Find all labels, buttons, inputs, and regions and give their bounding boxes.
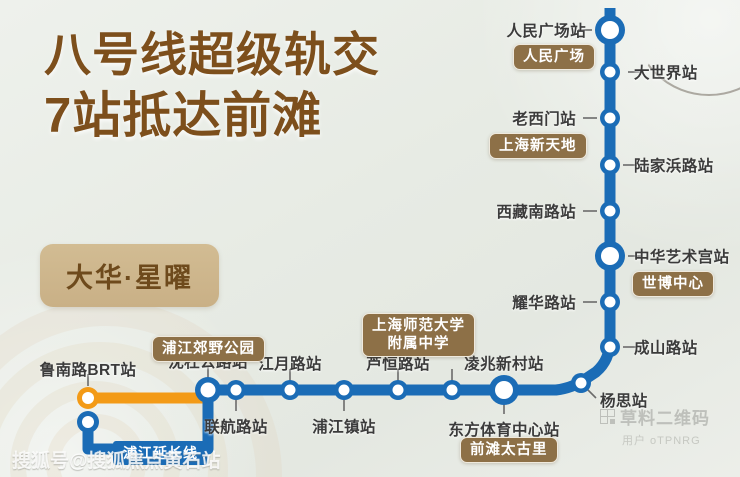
station-label-lianhang-lu: 联航路站 <box>204 415 268 437</box>
poi-badge-line-1: 上海师范大学 <box>372 317 465 335</box>
poi-badge-shanghai-xintiandi: 上海新天地 <box>489 133 587 159</box>
station-label-lujiabang-lu: 陆家浜路站 <box>634 154 714 176</box>
watermark-right-sub: 用户 oTPNRG <box>622 432 740 448</box>
station-label-jiangyue-lu: 江月路站 <box>258 352 322 374</box>
station-label-pujiangzhen: 浦江镇站 <box>312 415 376 437</box>
poi-badge-pujiang-jiaoye-gongyuan: 浦江郊野公园 <box>152 336 265 362</box>
station-label-chengshan-lu: 成山路站 <box>634 336 698 358</box>
watermark-right-main-text: 草料二维码 <box>620 404 710 429</box>
watermark-left: 搜狐号@搜狐焦点黄石站 <box>12 446 221 473</box>
station-label-dashijie: 大世界站 <box>634 61 698 83</box>
station-label-xizang-nan-lu: 西藏南路站 <box>496 200 576 222</box>
watermark-right-main: 草料二维码 <box>600 404 740 429</box>
poi-badge-shanghai-shifan-daxue: 上海师范大学 附属中学 <box>362 313 475 357</box>
poi-badge-renmin-guangchang: 人民广场 <box>513 44 595 70</box>
station-label-lunan-lu-brt: 鲁南路BRT站 <box>40 358 137 380</box>
line8-main-trunk <box>208 8 610 449</box>
poi-badge-shibo-zhongxin: 世博中心 <box>632 271 714 297</box>
station-label-lingzhao-xincun: 凌兆新村站 <box>464 352 544 374</box>
qrcode-icon <box>600 409 615 424</box>
station-label-laoximen: 老西门站 <box>512 107 576 129</box>
station-label-zhonghua-yishugong: 中华艺术宫站 <box>634 245 729 267</box>
metro-map-infographic: 八号线超级轨交 7站抵达前滩 大华·星曜 <box>0 0 740 477</box>
poi-badge-line-2: 附属中学 <box>372 335 465 353</box>
station-label-yaohua-lu: 耀华路站 <box>512 291 576 313</box>
poi-badge-qiantan-taikooli: 前滩太古里 <box>460 437 558 463</box>
station-label-renmin-guangchang: 人民广场站 <box>506 19 586 41</box>
watermark-right: 草料二维码 用户 oTPNRG <box>600 404 740 448</box>
